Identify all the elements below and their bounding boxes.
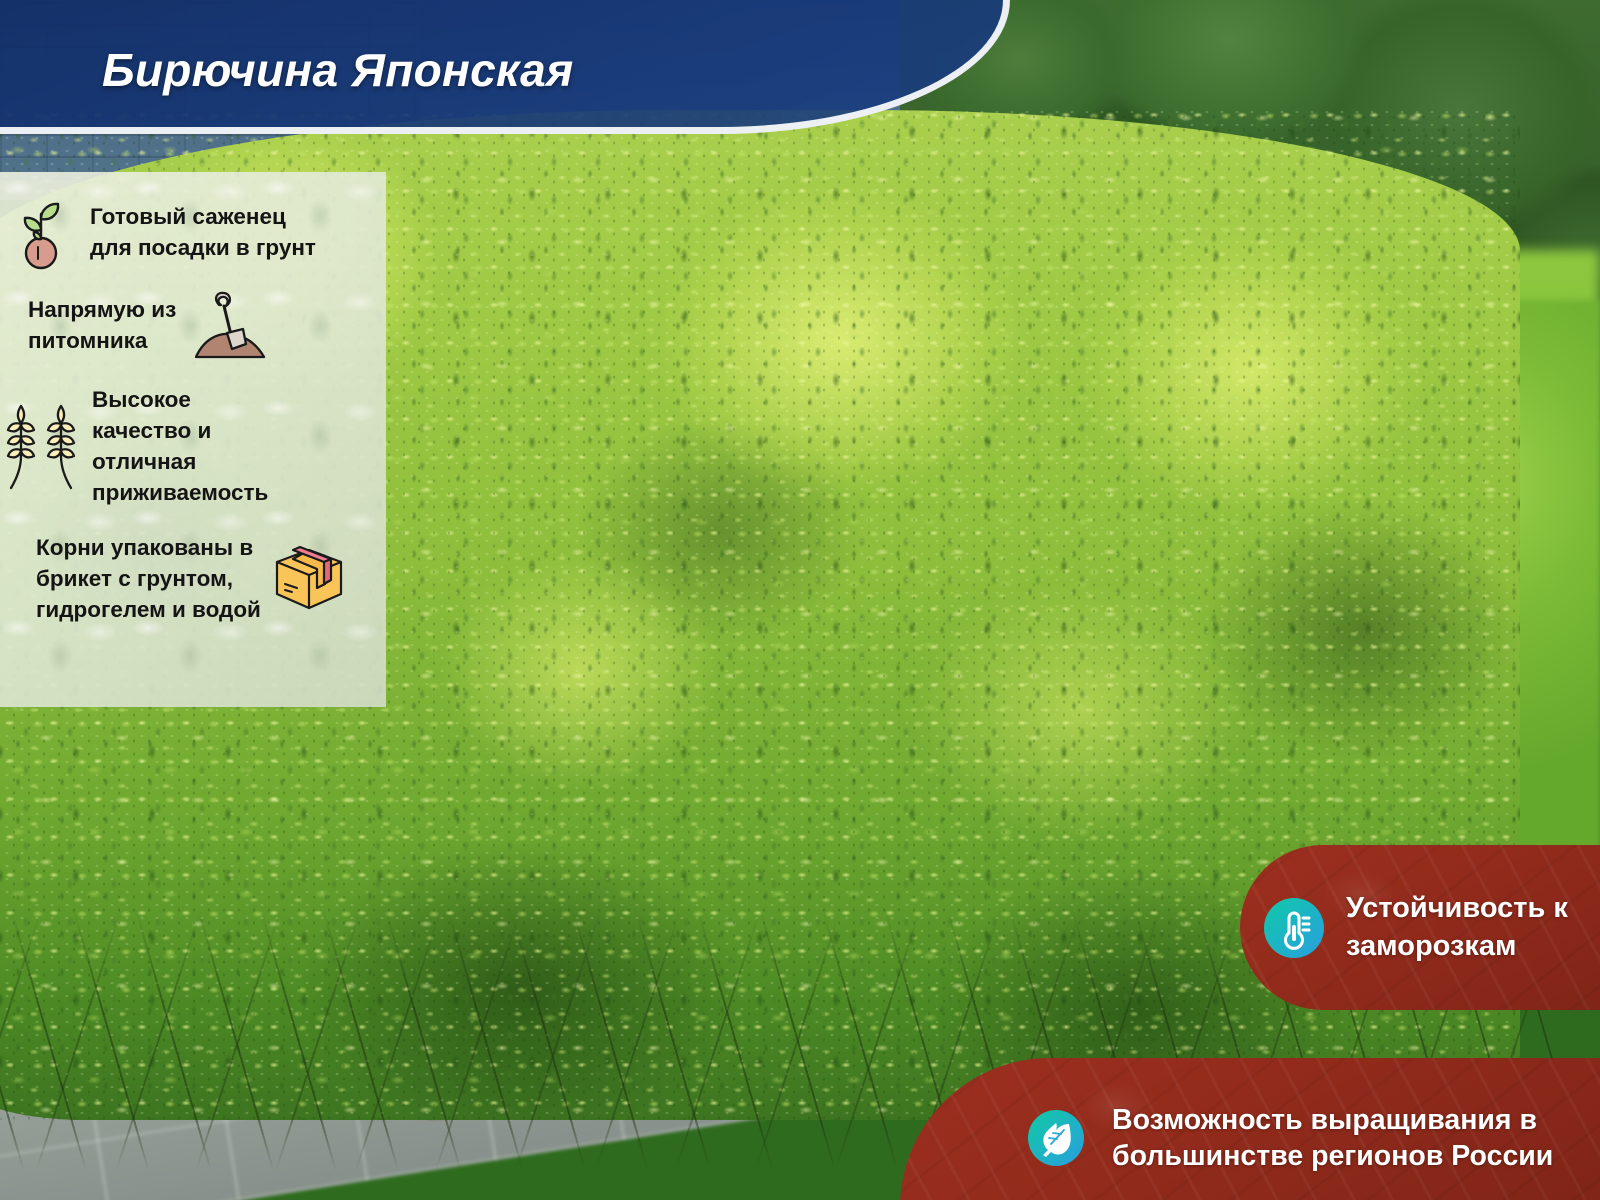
feature-item-packaging: Корни упакованы в брикет с грунтом, гидр… xyxy=(36,532,386,625)
features-panel: Готовый саженец для посадки в грунт Напр… xyxy=(0,172,386,707)
wheat-stalks-icon xyxy=(0,400,82,492)
feature-label-line1: Напрямую из xyxy=(28,297,176,322)
feature-label-line3: отличная xyxy=(92,449,196,474)
feature-item-seedling: Готовый саженец для посадки в грунт xyxy=(8,192,378,272)
badge-label: Возможность выращивания в большинстве ре… xyxy=(1112,1102,1553,1175)
feature-label-line2: брикет с грунтом, xyxy=(36,566,233,591)
feature-label-line3: гидрогелем и водой xyxy=(36,597,261,622)
status-badge-frost-resistant: Устойчивость к заморозкам xyxy=(1240,845,1600,1010)
feature-label-line2: для посадки в грунт xyxy=(90,235,316,260)
feature-label-line4: приживаемость xyxy=(92,480,268,505)
feature-label-line2: питомника xyxy=(28,328,147,353)
feature-label: Напрямую из питомника xyxy=(28,294,176,356)
package-box-icon xyxy=(267,542,351,616)
badge-label-line2: заморозкам xyxy=(1346,930,1517,962)
feature-label-line1: Высокое xyxy=(92,387,191,412)
feature-item-quality: Высокое качество и отличная приживаемост… xyxy=(0,384,380,508)
badge-label-line1: Возможность выращивания в xyxy=(1112,1104,1537,1136)
thermometer-icon xyxy=(1264,898,1324,958)
feature-label-line2: качество и xyxy=(92,418,211,443)
badge-label-line1: Устойчивость к xyxy=(1346,892,1568,924)
leaf-icon xyxy=(1028,1110,1084,1166)
spade-in-soil-icon xyxy=(186,287,272,363)
feature-label: Корни упакованы в брикет с грунтом, гидр… xyxy=(36,532,261,625)
header-banner: Бирючина Японская xyxy=(0,0,1010,134)
feature-label: Готовый саженец для посадки в грунт xyxy=(90,201,316,263)
status-badge-regions: Возможность выращивания в большинстве ре… xyxy=(900,1058,1600,1200)
feature-label: Высокое качество и отличная приживаемост… xyxy=(92,384,268,508)
badge-label: Устойчивость к заморозкам xyxy=(1346,890,1568,964)
page-title: Бирючина Японская xyxy=(102,43,573,97)
feature-label-line1: Корни упакованы в xyxy=(36,535,253,560)
feature-label-line1: Готовый саженец xyxy=(90,204,286,229)
feature-item-nursery: Напрямую из питомника xyxy=(28,287,378,363)
seedling-icon xyxy=(8,192,74,272)
badge-label-line2: большинстве регионов России xyxy=(1112,1140,1553,1172)
